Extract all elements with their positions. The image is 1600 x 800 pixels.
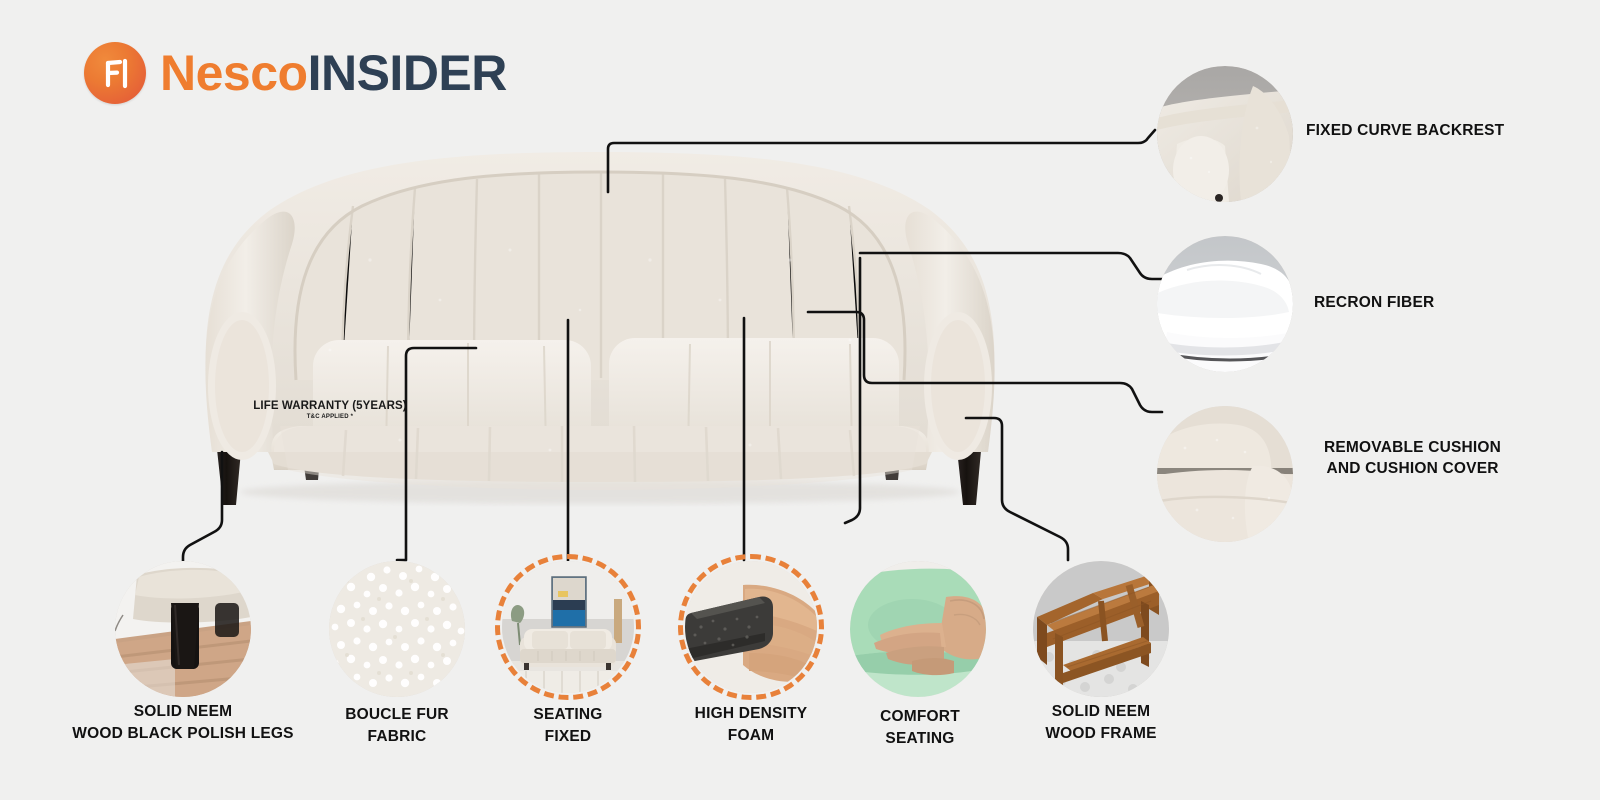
label-line-2: FIXED bbox=[468, 726, 668, 748]
infographic-canvas: NescoINSIDER bbox=[0, 0, 1600, 800]
callout-image-removable-cushion bbox=[1157, 406, 1293, 542]
label-recron-fiber: RECRON FIBER bbox=[1314, 293, 1434, 314]
label-line-1: REMOVABLE CUSHION bbox=[1324, 438, 1501, 459]
label-line-1: SOLID NEEM bbox=[63, 701, 303, 723]
label-boucle-fur-fabric: BOUCLE FUR FABRIC bbox=[297, 704, 497, 749]
label-seating-fixed: SEATING FIXED bbox=[468, 704, 668, 749]
label-fixed-curve-backrest: FIXED CURVE BACKREST bbox=[1306, 121, 1504, 142]
callout-image-solid-neem-legs bbox=[115, 561, 251, 697]
sofa-product-image bbox=[150, 140, 1050, 510]
label-comfort-seating: COMFORT SEATING bbox=[820, 706, 1020, 751]
label-solid-neem-legs: SOLID NEEM WOOD BLACK POLISH LEGS bbox=[63, 701, 303, 746]
label-line: FIXED CURVE BACKREST bbox=[1306, 122, 1504, 139]
label-line-1: BOUCLE FUR bbox=[297, 704, 497, 726]
label-line-1: SOLID NEEM bbox=[1001, 701, 1201, 723]
label-line-1: COMFORT bbox=[820, 706, 1020, 728]
brand-name-primary: Nesco bbox=[160, 45, 308, 101]
label-line-2: AND CUSHION COVER bbox=[1324, 459, 1501, 480]
label-line-2: WOOD FRAME bbox=[1001, 723, 1201, 745]
brand-name-secondary: INSIDER bbox=[308, 45, 507, 101]
callout-image-high-density-foam bbox=[685, 561, 817, 693]
callout-image-recron-fiber bbox=[1157, 236, 1293, 372]
brand-wordmark: NescoINSIDER bbox=[160, 48, 507, 98]
callout-image-boucle-fur-fabric bbox=[329, 561, 465, 697]
label-removable-cushion: REMOVABLE CUSHION AND CUSHION COVER bbox=[1324, 438, 1501, 480]
label-line-2: FABRIC bbox=[297, 726, 497, 748]
callout-image-solid-neem-wood-frame bbox=[1033, 561, 1169, 697]
callout-image-seating-fixed bbox=[502, 561, 634, 693]
fi-monogram-icon bbox=[84, 42, 146, 104]
label-line: RECRON FIBER bbox=[1314, 294, 1434, 311]
label-line-2: WOOD BLACK POLISH LEGS bbox=[63, 723, 303, 745]
label-line-1: SEATING bbox=[468, 704, 668, 726]
label-line-2: SEATING bbox=[820, 728, 1020, 750]
callout-image-fixed-curve-backrest bbox=[1157, 66, 1293, 202]
callout-image-comfort-seating bbox=[850, 561, 986, 697]
brand-logo: NescoINSIDER bbox=[84, 42, 507, 104]
label-solid-neem-wood-frame: SOLID NEEM WOOD FRAME bbox=[1001, 701, 1201, 746]
